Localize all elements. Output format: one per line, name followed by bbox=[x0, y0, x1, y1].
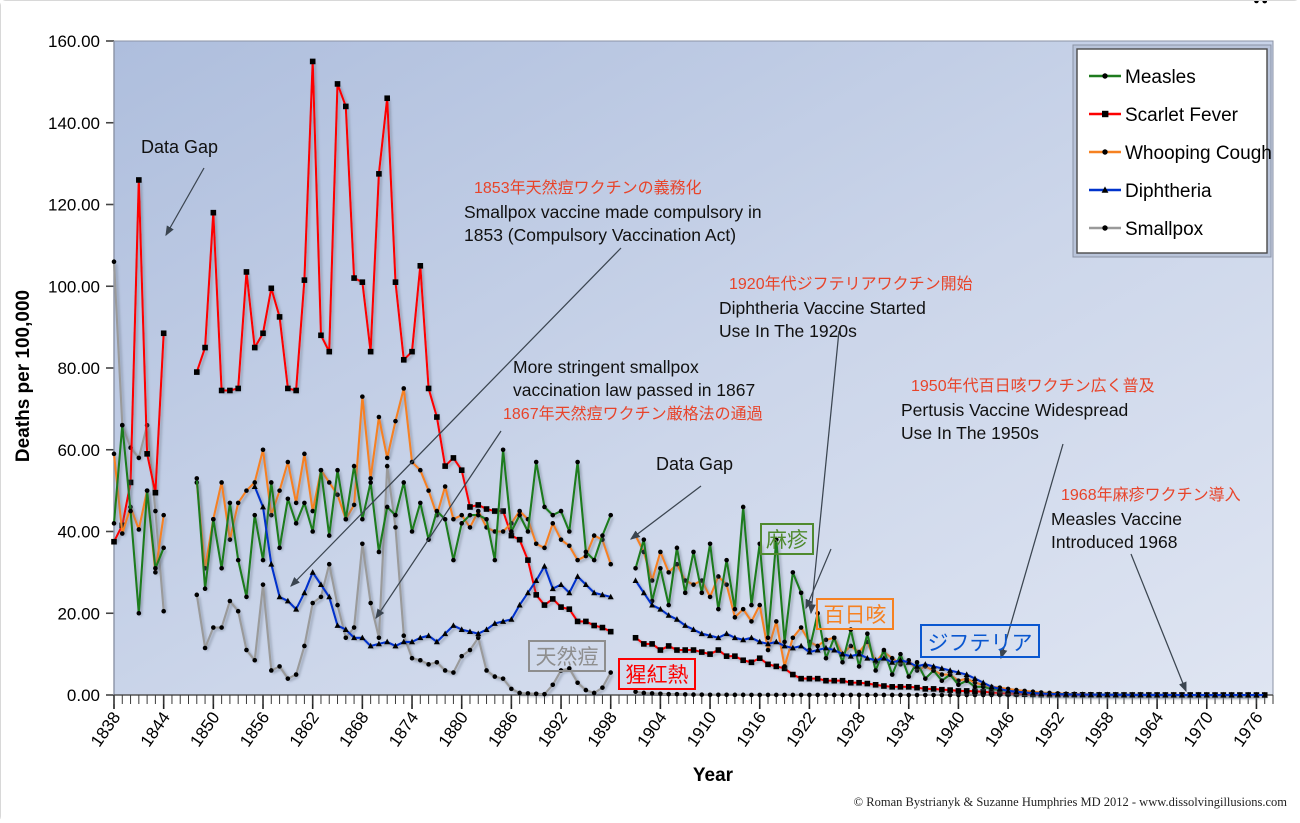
series-label-text: 麻疹 bbox=[766, 529, 808, 552]
y-tick-label: 140.00 bbox=[48, 114, 100, 133]
legend-label: Scarlet Fever bbox=[1125, 105, 1239, 126]
annotation-en: Pertusis Vaccine Widespread bbox=[901, 400, 1128, 420]
annotation-text: Data Gap bbox=[656, 454, 733, 474]
annotation-jp: 1920年代ジフテリアワクチン開始 bbox=[729, 275, 973, 293]
legend-label: Smallpox bbox=[1125, 219, 1204, 240]
series-label-smallpox-box: 天然痘 bbox=[529, 641, 605, 671]
series-label-text: 天然痘 bbox=[536, 646, 599, 669]
series-label-text: ジフテリア bbox=[928, 632, 1033, 655]
series-label-text: 猩紅熱 bbox=[626, 664, 689, 687]
annotation-jp: 1968年麻疹ワクチン導入 bbox=[1061, 485, 1241, 504]
chart-frame: 0.0020.0040.0060.0080.00100.00120.00140.… bbox=[0, 0, 1300, 822]
annotation-en: Measles Vaccine bbox=[1051, 509, 1182, 529]
legend-label: Diphtheria bbox=[1125, 181, 1212, 202]
y-tick-label: 20.00 bbox=[57, 604, 100, 623]
chart-legend[interactable]: MeaslesScarlet FeverWhooping CoughDiphth… bbox=[1073, 45, 1272, 257]
y-tick-label: 60.00 bbox=[57, 441, 100, 460]
annotation-en: vaccination law passed in 1867 bbox=[513, 380, 755, 400]
series-label-text: 百日咳 bbox=[824, 604, 887, 627]
y-tick-label: 80.00 bbox=[57, 359, 100, 378]
annotation-en: Use In The 1950s bbox=[901, 423, 1039, 443]
copyright-notice: © Roman Bystrianyk & Suzanne Humphries M… bbox=[854, 795, 1288, 809]
legend-label: Measles bbox=[1125, 67, 1196, 88]
annotation-en: More stringent smallpox bbox=[513, 357, 699, 377]
y-tick-label: 40.00 bbox=[57, 523, 100, 542]
y-tick-label: 120.00 bbox=[48, 196, 100, 215]
y-tick-label: 100.00 bbox=[48, 277, 100, 296]
annotation-en: Introduced 1968 bbox=[1051, 532, 1178, 552]
legend-label: Whooping Cough bbox=[1125, 143, 1272, 164]
disease-mortality-chart: 0.0020.0040.0060.0080.00100.00120.00140.… bbox=[1, 1, 1300, 823]
annotation-en: 1853 (Compulsory Vaccination Act) bbox=[464, 225, 736, 245]
y-tick-label: 160.00 bbox=[48, 32, 100, 51]
series-label-scarletfever-box: 猩紅熱 bbox=[619, 659, 695, 689]
annotation-text: Data Gap bbox=[141, 137, 218, 157]
annotation-jp: 1950年代百日咳ワクチン広く普及 bbox=[911, 377, 1155, 395]
series-label-pertussis-box: 百日咳 bbox=[817, 599, 893, 629]
x-axis-title: Year bbox=[693, 765, 734, 786]
y-axis-title: Deaths per 100,000 bbox=[13, 290, 34, 462]
annotation-jp: 1867年天然痘ワクチン厳格法の通過 bbox=[503, 405, 763, 423]
annotation-en: Diphtheria Vaccine Started bbox=[719, 298, 926, 318]
annotation-en: Use In The 1920s bbox=[719, 321, 857, 341]
annotation-en: Smallpox vaccine made compulsory in bbox=[464, 202, 762, 222]
y-tick-label: 0.00 bbox=[67, 686, 100, 705]
annotation-jp: 1853年天然痘ワクチンの義務化 bbox=[474, 179, 702, 197]
